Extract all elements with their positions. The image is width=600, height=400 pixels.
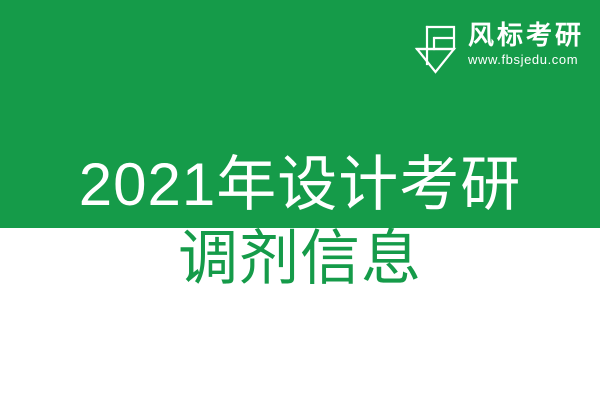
fb-monogram-icon (414, 18, 460, 74)
brand-logo-lockup[interactable]: 风标考研 www.fbsjedu.com (414, 18, 584, 74)
headline-block: 2021年设计考研 调剂信息 (0, 148, 600, 296)
logo-brand-name: 风标考研 (468, 20, 584, 50)
logo-text-column: 风标考研 www.fbsjedu.com (468, 18, 584, 68)
lower-blank-area (0, 300, 600, 400)
headline-line-1: 2021年设计考研 (0, 148, 600, 222)
poster-canvas: 风标考研 www.fbsjedu.com 2021年设计考研 调剂信息 (0, 0, 600, 400)
logo-website-url: www.fbsjedu.com (468, 52, 578, 68)
headline-line-2: 调剂信息 (0, 222, 600, 296)
